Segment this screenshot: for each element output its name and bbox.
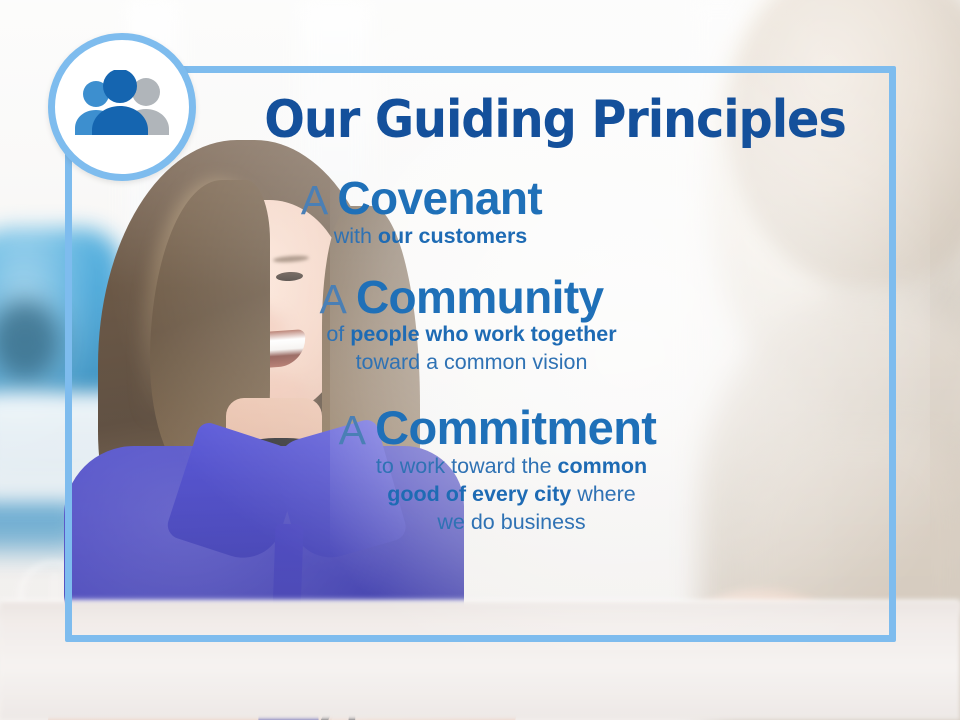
principle-subline-emphasis: our customers <box>378 224 527 248</box>
principle-subline: we do business <box>65 509 896 537</box>
principle-article: A <box>319 276 355 322</box>
principle-headline: A Covenant <box>65 174 896 223</box>
principle-keyword: Community <box>356 271 604 323</box>
principles-list: A Covenantwith our customersA Communityo… <box>65 174 896 543</box>
principle-subline-text: we do business <box>437 510 585 534</box>
principle-block: A Covenantwith our customers <box>65 174 896 251</box>
principle-article: A <box>301 177 337 223</box>
principle-subline: good of every city where <box>65 481 896 509</box>
principle-subline-emphasis: common <box>558 454 648 478</box>
principle-subline-emphasis: people who work together <box>350 322 616 346</box>
banner-graphic: FLOW FLOW Our Guiding Princ <box>0 0 960 720</box>
principle-subline-text: where <box>571 482 636 506</box>
principle-subline: toward a common vision <box>65 349 896 377</box>
principle-subline: to work toward the common <box>65 453 896 481</box>
principle-subline-text: with <box>334 224 378 248</box>
principle-headline: A Commitment <box>65 403 896 453</box>
principle-headline: A Community <box>65 273 896 322</box>
principle-subline-emphasis: good of every city <box>387 482 571 506</box>
principle-block: A Commitmentto work toward the commongoo… <box>65 403 896 537</box>
principle-block: A Communityof people who work togetherto… <box>65 273 896 378</box>
page-title: Our Guiding Principles <box>251 94 858 146</box>
banner-content: Our Guiding Principles A Covenantwith ou… <box>65 66 896 642</box>
principle-subline-text: to work toward the <box>376 454 558 478</box>
principle-article: A <box>339 407 375 453</box>
principle-subline: with our customers <box>65 223 896 251</box>
principle-subline-text: of <box>326 322 350 346</box>
principle-keyword: Commitment <box>375 401 656 454</box>
principle-subline: of people who work together <box>65 321 896 349</box>
principle-keyword: Covenant <box>337 172 542 224</box>
principle-subline-text: toward a common vision <box>356 350 588 374</box>
